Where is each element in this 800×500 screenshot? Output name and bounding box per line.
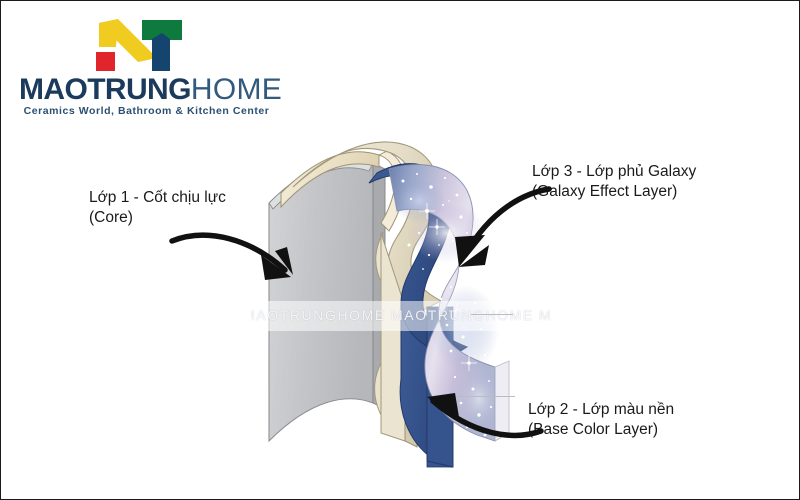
screenshot-canvas: MAOTRUNGHOME Ceramics World, Bathroom & … [0,0,800,500]
brand-tagline: Ceramics World, Bathroom & Kitchen Cente… [19,105,274,117]
label-galaxy-line1: Lớp 3 - Lớp phủ Galaxy [532,163,696,180]
leader-line-top [471,314,513,315]
layered-panel-diagram [251,141,531,471]
brand-wordmark: MAOTRUNGHOME [19,75,274,105]
wordmark-bold: MAOTRUNG [19,73,191,106]
label-base-line1: Lớp 2 - Lớp màu nền [528,401,674,418]
leader-line-bottom [433,396,515,397]
label-layer-core: Lớp 1 - Cốt chịu lực (Core) [89,188,226,228]
brand-logo: MAOTRUNGHOME Ceramics World, Bathroom & … [19,17,274,117]
wordmark-light: HOME [191,73,282,106]
mt-monogram-icon [94,17,184,73]
label-core-line1: Lớp 1 - Cốt chịu lực [89,189,226,206]
label-core-line2: (Core) [89,208,226,228]
label-layer-base: Lớp 2 - Lớp màu nền (Base Color Layer) [528,400,674,440]
watermark-text: MAOTRUNGHOME [539,307,551,323]
label-base-line2: (Base Color Layer) [528,420,674,440]
label-layer-galaxy: Lớp 3 - Lớp phủ Galaxy (Galaxy Effect La… [532,162,696,202]
label-galaxy-line2: (Galaxy Effect Layer) [532,182,696,202]
